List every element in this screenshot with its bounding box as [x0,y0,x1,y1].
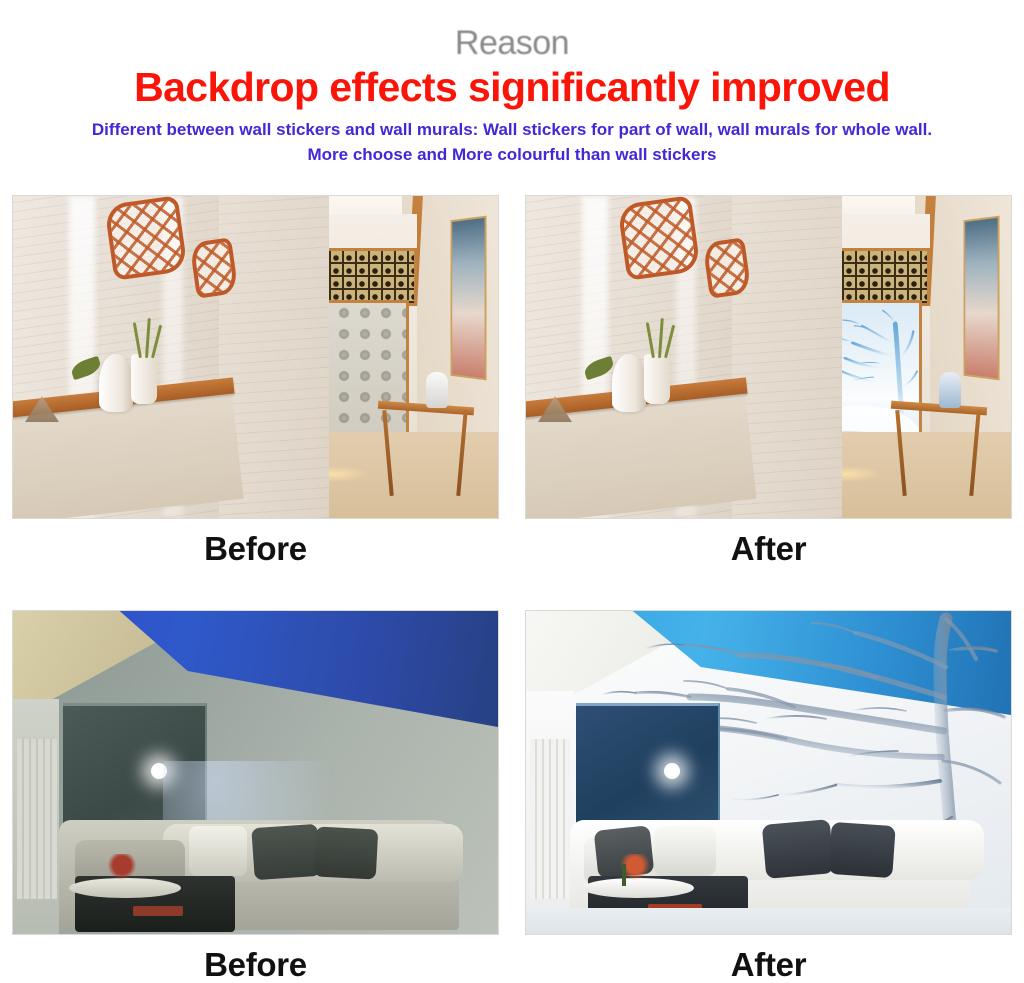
white-plant-pot [131,354,157,404]
floor [526,908,1011,934]
wall-art [451,216,487,381]
comparison-cell-living-before: Before [13,611,498,981]
dark-pillow [762,819,834,879]
wall-art [964,216,1000,381]
comparison-row-living-room: Before [0,611,1024,981]
page-title: Backdrop effects significantly improved [0,60,1024,109]
lattice-decor-large [617,196,701,281]
white-plant-pot [644,354,670,404]
photo-hallway-after [526,196,1011,518]
radiator [530,739,570,899]
figurine-decor [939,372,961,408]
caption-after: After [526,934,1011,981]
subtitle-line-2: More choose and More colourful than wall… [0,143,1024,168]
flower-stem [622,864,626,886]
comparison-cell-hallway-before: Before [13,196,498,565]
dark-pillow [251,824,320,880]
comparison-grid: Before [0,196,1024,981]
lattice-decor-small [702,237,751,298]
light-pillow [189,826,247,876]
light-pillow [654,826,716,876]
photo-living-after [526,611,1011,934]
caption-after: After [526,518,1011,565]
figurine-decor [426,372,448,408]
lattice-decor-large [104,196,188,281]
lattice-decor-small [189,237,238,298]
subtitle-line-1: Different between wall stickers and wall… [0,109,1024,143]
photo-hallway-before [13,196,498,518]
spotlight [664,763,680,779]
book-decor [133,906,183,916]
comparison-cell-hallway-after: After [526,196,1011,565]
caption-before: Before [13,518,498,565]
flower-bouquet [105,854,139,882]
comparison-cell-living-after: After [526,611,1011,981]
dark-pillow [828,822,895,878]
radiator [17,739,57,899]
kicker-heading: Reason [0,0,1024,60]
photo-living-before [13,611,498,934]
white-vase [99,354,133,412]
header-block: Reason Backdrop effects significantly im… [0,0,1024,167]
comparison-row-hallway: Before [0,196,1024,565]
dark-pillow [314,826,379,879]
caption-before: Before [13,934,498,981]
white-vase [612,354,646,412]
